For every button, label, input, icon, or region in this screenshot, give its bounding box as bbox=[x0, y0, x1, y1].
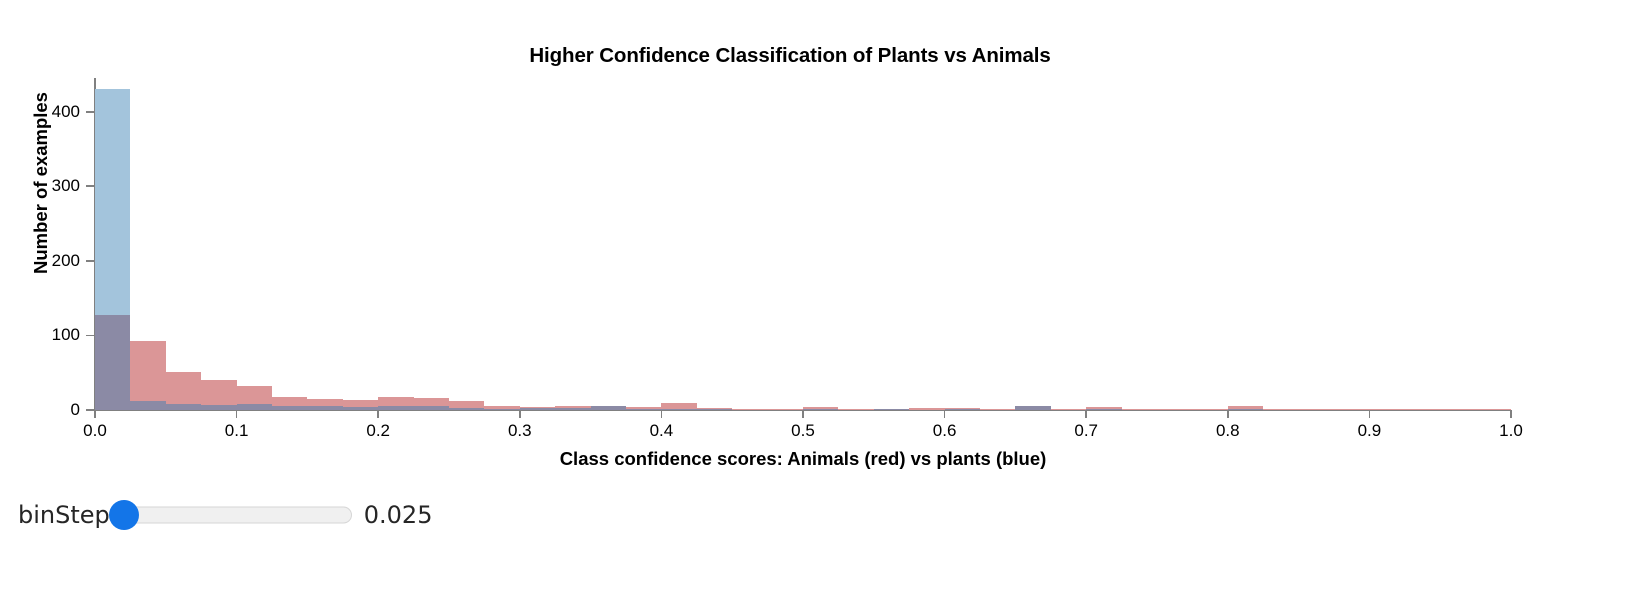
histogram-bar bbox=[661, 403, 696, 410]
histogram-bar bbox=[1369, 409, 1404, 410]
y-axis-label: Number of examples bbox=[30, 83, 52, 283]
histogram-bar bbox=[95, 89, 130, 410]
bar-segment-animals bbox=[838, 409, 873, 410]
histogram-bar bbox=[768, 409, 803, 410]
x-tick-label: 0.4 bbox=[650, 421, 674, 441]
histogram-bar bbox=[1263, 409, 1298, 410]
histogram-bar bbox=[1405, 409, 1440, 410]
bar-segment-animals bbox=[166, 372, 201, 404]
bar-segment-animals bbox=[1440, 409, 1475, 410]
bar-segment-overlap bbox=[237, 404, 272, 410]
histogram-bar bbox=[1086, 407, 1121, 410]
bar-segment-animals bbox=[1122, 409, 1157, 410]
y-tick-mark bbox=[86, 185, 94, 187]
bar-segment-overlap bbox=[555, 408, 590, 410]
x-tick-label: 0.2 bbox=[366, 421, 390, 441]
histogram-bar bbox=[591, 406, 626, 410]
x-tick-mark bbox=[377, 410, 379, 418]
x-tick-label: 0.6 bbox=[933, 421, 957, 441]
histogram-figure: Higher Confidence Classification of Plan… bbox=[0, 0, 1646, 490]
histogram-bar bbox=[874, 409, 909, 410]
bar-segment-overlap bbox=[697, 409, 732, 410]
x-tick-label: 1.0 bbox=[1499, 421, 1523, 441]
histogram-bar bbox=[1051, 409, 1086, 410]
bar-segment-animals bbox=[1369, 409, 1404, 410]
x-tick-mark bbox=[1085, 410, 1087, 418]
bar-segment-animals bbox=[732, 409, 767, 410]
bar-segment-animals bbox=[201, 380, 236, 405]
bar-segment-overlap bbox=[1228, 409, 1263, 410]
bar-segment-overlap bbox=[1086, 409, 1121, 410]
bar-segment-animals bbox=[414, 398, 449, 406]
histogram-bar bbox=[449, 401, 484, 410]
bar-segment-animals bbox=[1051, 409, 1086, 410]
bar-segment-animals bbox=[1334, 409, 1369, 410]
y-tick-label: 400 bbox=[52, 102, 80, 122]
bar-segment-overlap bbox=[166, 404, 201, 410]
bar-segment-animals bbox=[272, 397, 307, 406]
bar-segment-animals bbox=[520, 407, 555, 408]
histogram-bar bbox=[378, 397, 413, 410]
histogram-bar bbox=[555, 406, 590, 410]
bar-segment-animals bbox=[130, 341, 165, 401]
bar-segment-animals bbox=[555, 406, 590, 407]
histogram-bar bbox=[803, 407, 838, 410]
bar-segment-overlap bbox=[201, 405, 236, 410]
histogram-bar bbox=[166, 372, 201, 410]
histogram-bar bbox=[980, 409, 1015, 410]
bar-segment-animals bbox=[803, 407, 838, 409]
bar-segment-animals bbox=[909, 408, 944, 410]
bar-segment-overlap bbox=[449, 408, 484, 410]
bar-segment-overlap bbox=[626, 409, 661, 410]
bar-segment-animals bbox=[1405, 409, 1440, 410]
histogram-bar bbox=[1157, 409, 1192, 410]
bar-segment-animals bbox=[1228, 406, 1263, 410]
x-tick-mark bbox=[94, 410, 96, 418]
histogram-bar bbox=[520, 407, 555, 410]
y-tick-label: 0 bbox=[71, 400, 80, 420]
bar-segment-overlap bbox=[838, 409, 873, 410]
bar-segment-animals bbox=[697, 408, 732, 409]
x-tick-label: 0.1 bbox=[225, 421, 249, 441]
histogram-bar bbox=[1440, 409, 1475, 410]
bar-segment-overlap bbox=[414, 406, 449, 410]
bar-segment-animals bbox=[484, 406, 519, 408]
y-tick-mark bbox=[86, 260, 94, 262]
y-tick-label: 100 bbox=[52, 325, 80, 345]
bar-segment-animals bbox=[307, 399, 342, 406]
slider-handle[interactable] bbox=[109, 500, 139, 530]
bar-segment-overlap bbox=[130, 401, 165, 410]
bar-segment-animals bbox=[1299, 409, 1334, 410]
histogram-bar bbox=[1122, 409, 1157, 410]
bar-segment-animals bbox=[1192, 409, 1227, 410]
bar-segment-animals bbox=[378, 397, 413, 406]
histogram-bar bbox=[909, 408, 944, 410]
x-tick-label: 0.7 bbox=[1074, 421, 1098, 441]
histogram-bar bbox=[1476, 409, 1511, 410]
histogram-bar bbox=[484, 406, 519, 410]
plot-area bbox=[95, 82, 1511, 410]
histogram-bar bbox=[237, 386, 272, 410]
bar-segment-overlap bbox=[95, 315, 130, 410]
bar-segment-overlap bbox=[661, 409, 696, 410]
slider-track[interactable] bbox=[112, 507, 352, 524]
bar-segment-overlap bbox=[945, 409, 980, 410]
bin-step-slider-value: 0.025 bbox=[364, 503, 433, 527]
bar-segment-animals bbox=[626, 407, 661, 408]
x-tick-mark bbox=[236, 410, 238, 418]
histogram-bar bbox=[1192, 409, 1227, 410]
bar-segment-animals bbox=[945, 408, 980, 409]
bar-segment-animals bbox=[449, 401, 484, 408]
x-tick-label: 0.9 bbox=[1358, 421, 1382, 441]
bar-segment-animals bbox=[980, 409, 1015, 410]
x-tick-mark bbox=[661, 410, 663, 418]
histogram-bar bbox=[732, 409, 767, 410]
histogram-bar bbox=[414, 398, 449, 410]
histogram-bar bbox=[201, 380, 236, 410]
histogram-bar bbox=[945, 408, 980, 410]
bar-segment-plants bbox=[95, 89, 130, 314]
histogram-bar bbox=[697, 408, 732, 410]
x-tick-mark bbox=[802, 410, 804, 418]
bar-segment-overlap bbox=[343, 407, 378, 410]
x-tick-label: 0.5 bbox=[791, 421, 815, 441]
histogram-bar bbox=[1334, 409, 1369, 410]
x-tick-mark bbox=[1369, 410, 1371, 418]
chart-title: Higher Confidence Classification of Plan… bbox=[0, 44, 1580, 68]
y-tick-mark bbox=[86, 335, 94, 337]
y-tick-mark bbox=[86, 111, 94, 113]
bar-segment-overlap bbox=[272, 406, 307, 410]
bar-segment-animals bbox=[768, 409, 803, 410]
bar-segment-animals bbox=[1263, 409, 1298, 410]
bar-segment-overlap bbox=[591, 406, 626, 410]
bar-segment-overlap bbox=[520, 408, 555, 410]
y-tick-label: 200 bbox=[52, 251, 80, 271]
x-tick-mark bbox=[944, 410, 946, 418]
bar-segment-animals bbox=[1086, 407, 1121, 409]
histogram-bar bbox=[1015, 406, 1050, 410]
bar-segment-animals bbox=[237, 386, 272, 404]
histogram-bar bbox=[343, 400, 378, 410]
histogram-bars bbox=[95, 82, 1511, 410]
histogram-bar bbox=[1299, 409, 1334, 410]
histogram-bar bbox=[272, 397, 307, 410]
bar-segment-animals bbox=[661, 403, 696, 408]
bin-step-slider-label: binStep bbox=[18, 503, 110, 527]
bar-segment-overlap bbox=[484, 409, 519, 410]
histogram-bar bbox=[307, 399, 342, 410]
bar-segment-overlap bbox=[1015, 406, 1050, 410]
histogram-bar bbox=[130, 341, 165, 410]
x-tick-mark bbox=[519, 410, 521, 418]
histogram-bar bbox=[1228, 406, 1263, 410]
bar-segment-overlap bbox=[732, 409, 767, 410]
bar-segment-overlap bbox=[768, 409, 803, 410]
histogram-bar bbox=[838, 409, 873, 410]
bar-segment-animals bbox=[343, 400, 378, 407]
bar-segment-overlap bbox=[803, 409, 838, 410]
bar-segment-animals bbox=[1157, 409, 1192, 410]
y-tick-mark bbox=[86, 409, 94, 411]
histogram-bar bbox=[626, 407, 661, 410]
x-tick-label: 0.3 bbox=[508, 421, 532, 441]
x-axis-label: Class confidence scores: Animals (red) v… bbox=[95, 448, 1511, 470]
y-tick-label: 300 bbox=[52, 176, 80, 196]
x-tick-mark bbox=[1510, 410, 1512, 418]
bar-segment-animals bbox=[1476, 409, 1511, 410]
x-tick-label: 0.8 bbox=[1216, 421, 1240, 441]
x-tick-label: 0.0 bbox=[83, 421, 107, 441]
bar-segment-overlap bbox=[874, 409, 909, 410]
bar-segment-overlap bbox=[307, 406, 342, 410]
x-tick-mark bbox=[1227, 410, 1229, 418]
bar-segment-overlap bbox=[378, 406, 413, 410]
bin-step-slider-row[interactable]: binStep 0.025 bbox=[18, 492, 432, 538]
bin-step-slider[interactable] bbox=[112, 505, 352, 525]
